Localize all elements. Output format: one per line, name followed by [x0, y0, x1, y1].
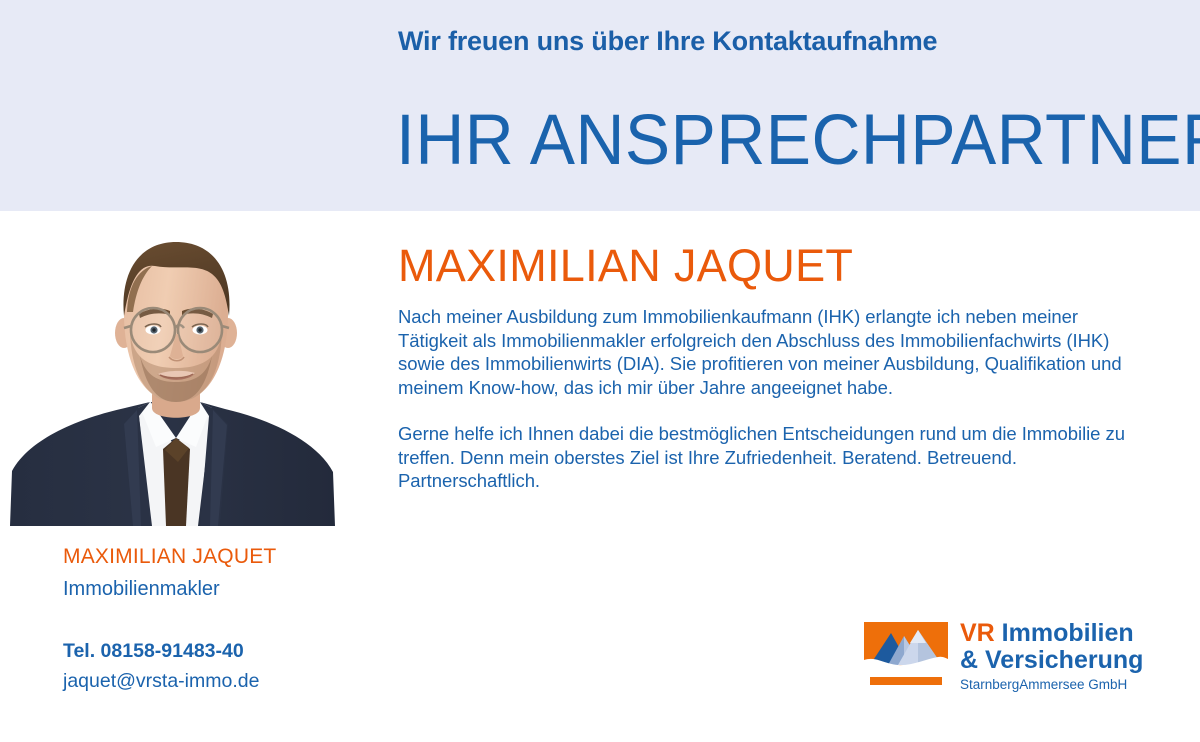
header-band: Wir freuen uns über Ihre Kontaktaufnahme…	[0, 0, 1200, 211]
bio-paragraph-2: Gerne helfe ich Ihnen dabei die bestmögl…	[398, 422, 1143, 493]
header-kicker: Wir freuen uns über Ihre Kontaktaufnahme	[398, 26, 937, 57]
bio-paragraph-1: Nach meiner Ausbildung zum Immobilienkau…	[398, 305, 1143, 399]
logo-subtitle: StarnbergAmmersee GmbH	[960, 677, 1160, 693]
person-name-heading: MAXIMILIAN JAQUET	[398, 242, 853, 290]
bio-text: Nach meiner Ausbildung zum Immobilienkau…	[398, 305, 1143, 493]
logo-wordmark: VR Immobilien & Versicherung StarnbergAm…	[960, 620, 1160, 693]
contact-name: MAXIMILIAN JAQUET	[63, 545, 276, 569]
contact-role: Immobilienmakler	[63, 578, 220, 601]
mountains-logo-icon	[864, 622, 948, 688]
portrait-illustration	[0, 216, 345, 526]
company-logo[interactable]: VR Immobilien & Versicherung StarnbergAm…	[864, 622, 1154, 696]
contact-phone[interactable]: Tel. 08158-91483-40	[63, 640, 244, 663]
logo-line-1: VR Immobilien	[960, 620, 1160, 647]
page-title: IHR ANSPRECHPARTNER	[396, 104, 1200, 178]
contact-email[interactable]: jaquet@vrsta-immo.de	[63, 670, 259, 693]
logo-immobilien: Immobilien	[995, 619, 1134, 647]
logo-vr: VR	[960, 619, 995, 647]
logo-line-2: & Versicherung	[960, 647, 1160, 674]
portrait-photo	[0, 216, 345, 526]
